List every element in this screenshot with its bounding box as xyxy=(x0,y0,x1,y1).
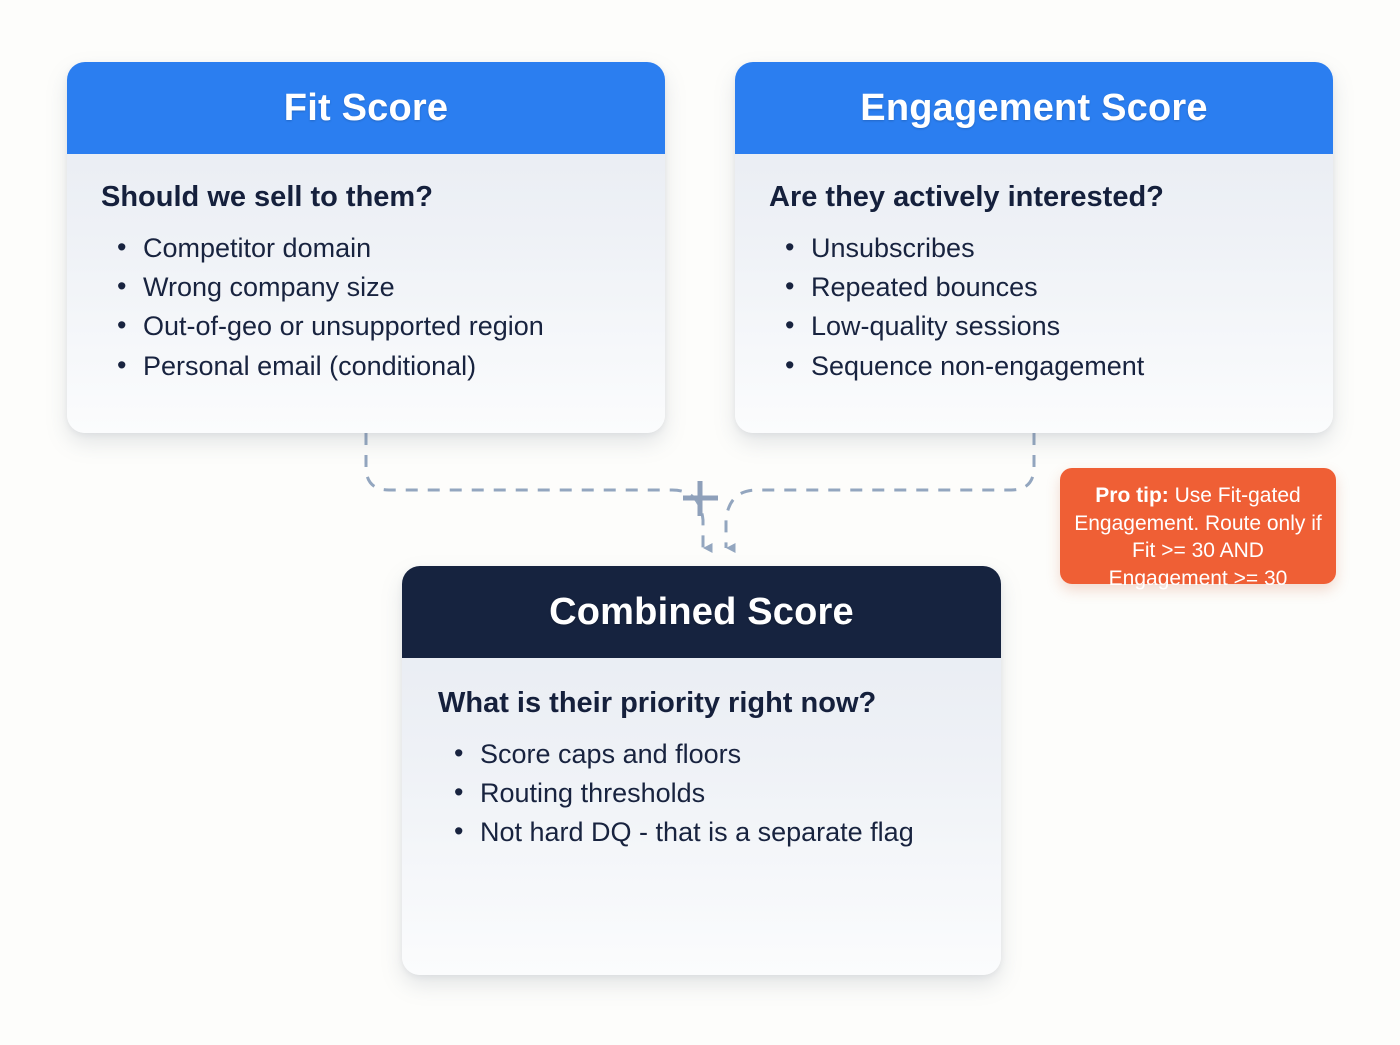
card-fit-score-question: Should we sell to them? xyxy=(101,180,635,215)
card-combined-score-header: Combined Score xyxy=(402,566,1001,658)
list-item: Wrong company size xyxy=(113,268,635,306)
card-engagement-score[interactable]: Engagement Score Are they actively inter… xyxy=(735,62,1333,433)
card-engagement-score-question: Are they actively interested? xyxy=(769,180,1303,215)
list-item: Routing thresholds xyxy=(450,774,971,812)
pro-tip-badge: Pro tip: Use Fit-gated Engagement. Route… xyxy=(1060,468,1336,584)
list-item: Low-quality sessions xyxy=(781,307,1303,345)
pro-tip-label: Pro tip: xyxy=(1095,484,1169,507)
list-item: Sequence non-engagement xyxy=(781,347,1303,385)
connector-path-engagement xyxy=(726,433,1034,548)
card-engagement-score-body: Are they actively interested? Unsubscrib… xyxy=(735,154,1333,406)
plus-operator-icon xyxy=(683,481,718,516)
list-item: Not hard DQ - that is a separate flag xyxy=(450,813,971,851)
card-combined-score-bullet-list: Score caps and floors Routing thresholds… xyxy=(438,735,971,852)
card-fit-score-bullet-list: Competitor domain Wrong company size Out… xyxy=(101,229,635,385)
list-item: Personal email (conditional) xyxy=(113,347,635,385)
list-item: Unsubscribes xyxy=(781,229,1303,267)
card-fit-score-title: Fit Score xyxy=(284,87,448,130)
list-item: Competitor domain xyxy=(113,229,635,267)
connector-path-fit xyxy=(366,433,703,548)
card-combined-score-body: What is their priority right now? Score … xyxy=(402,658,1001,873)
card-engagement-score-title: Engagement Score xyxy=(860,87,1207,130)
card-fit-score[interactable]: Fit Score Should we sell to them? Compet… xyxy=(67,62,665,433)
diagram-canvas: Fit Score Should we sell to them? Compet… xyxy=(0,0,1400,1045)
card-engagement-score-bullet-list: Unsubscribes Repeated bounces Low-qualit… xyxy=(769,229,1303,385)
list-item: Repeated bounces xyxy=(781,268,1303,306)
card-engagement-score-header: Engagement Score xyxy=(735,62,1333,154)
card-fit-score-header: Fit Score xyxy=(67,62,665,154)
card-combined-score-question: What is their priority right now? xyxy=(438,686,971,721)
card-fit-score-body: Should we sell to them? Competitor domai… xyxy=(67,154,665,406)
card-combined-score-title: Combined Score xyxy=(549,591,854,634)
list-item: Out-of-geo or unsupported region xyxy=(113,307,635,345)
list-item: Score caps and floors xyxy=(450,735,971,773)
card-combined-score[interactable]: Combined Score What is their priority ri… xyxy=(402,566,1001,975)
